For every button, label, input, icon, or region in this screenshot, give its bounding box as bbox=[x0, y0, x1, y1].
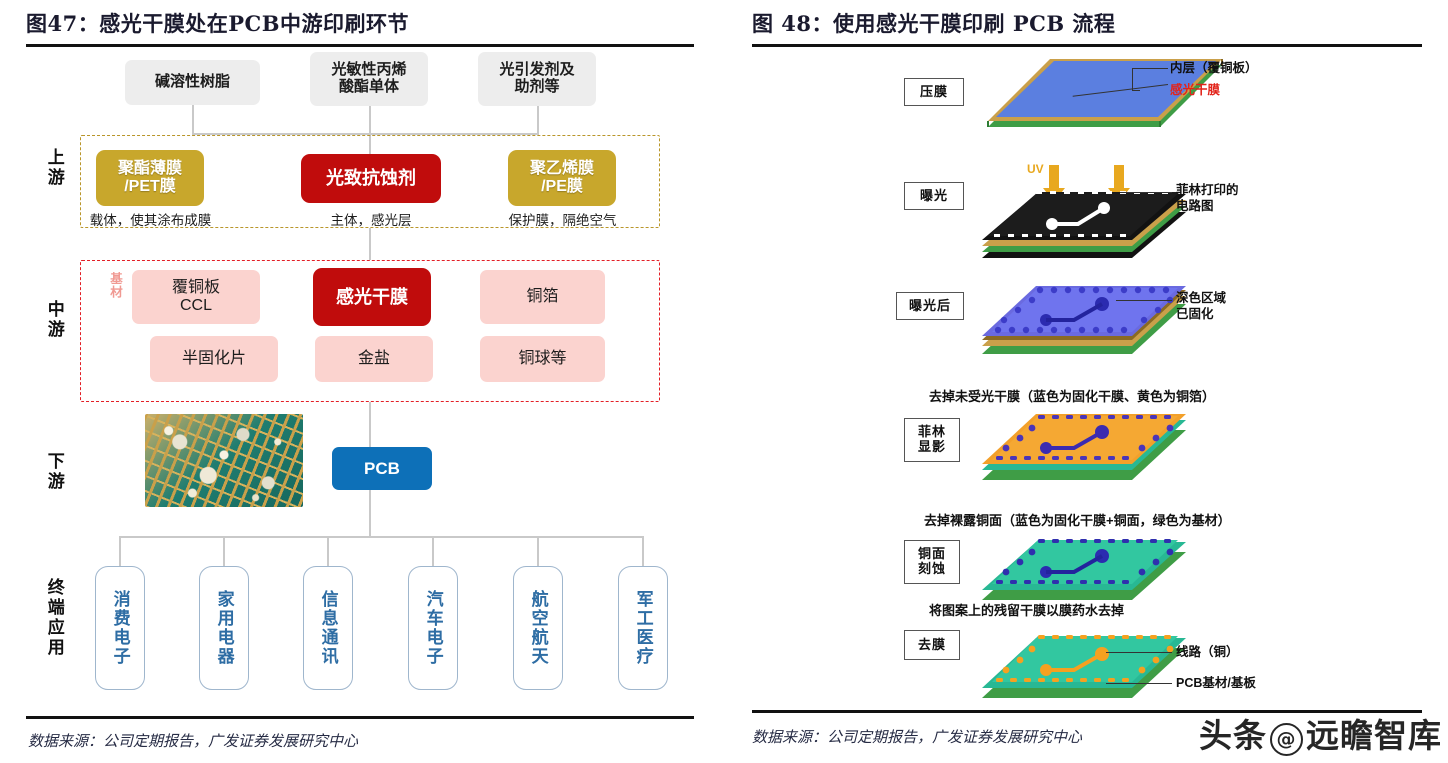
connector-pcb-apps bbox=[369, 490, 371, 537]
midstream-node-ccl: 覆铜板 CCL bbox=[132, 270, 260, 324]
connector-raw-1 bbox=[192, 105, 194, 134]
connector-apps-bus bbox=[119, 536, 642, 538]
application-box-military-medical: 军工医疗 bbox=[618, 566, 668, 690]
connector-app-4 bbox=[432, 536, 434, 566]
step-label-copper-etching: 铜面 刻蚀 bbox=[904, 540, 960, 584]
process-note-stripping: 将图案上的残留干膜以膜药水去掉 bbox=[929, 600, 1124, 619]
watermark-at-icon: @ bbox=[1270, 723, 1303, 756]
right-source-note: 数据来源：公司定期报告，广发证券发展研究中心 bbox=[752, 726, 1082, 747]
connector-app-3 bbox=[327, 536, 329, 566]
leader-cured-area bbox=[1116, 300, 1172, 301]
left-figure-title: 图47：感光干膜处在PCB中游印刷环节 bbox=[26, 8, 409, 38]
connector-app-5 bbox=[537, 536, 539, 566]
midstream-node-goldsalt: 金盐 bbox=[315, 336, 433, 382]
midstream-node-copperfoil: 铜箔 bbox=[480, 270, 605, 324]
pcb-board-photo bbox=[145, 414, 303, 507]
application-box-consumer-electronics: 消费电子 bbox=[95, 566, 145, 690]
right-figure-title: 图 48：使用感光干膜印刷 PCB 流程 bbox=[752, 8, 1115, 38]
connector-mid-down bbox=[369, 402, 371, 447]
watermark-name: 远瞻智库 bbox=[1306, 716, 1442, 755]
leader-bracket-inner-layer bbox=[1132, 68, 1133, 90]
upstream-caption-photoresist: 主体，感光层 bbox=[311, 209, 431, 229]
annotation-circuit-copper: 线路（铜） bbox=[1176, 644, 1239, 660]
stage-label-terminal: 终端应用 bbox=[44, 578, 63, 658]
application-box-home-appliances: 家用电器 bbox=[199, 566, 249, 690]
stage-label-midstream: 中游 bbox=[44, 300, 63, 340]
connector-raw-3 bbox=[537, 106, 539, 135]
board-illustration-etching bbox=[974, 522, 1224, 606]
leader-pcb-substrate bbox=[1106, 683, 1172, 684]
step-label-film-stripping: 去膜 bbox=[904, 630, 960, 660]
connector-app-1 bbox=[119, 536, 121, 566]
step-label-film-develop: 菲林 显影 bbox=[904, 418, 960, 462]
raw-material-box-3: 光引发剂及 助剂等 bbox=[478, 52, 596, 106]
watermark: 头条@远瞻智库 bbox=[1199, 709, 1442, 757]
upstream-caption-pet: 载体，使其涂布成膜 bbox=[88, 209, 213, 229]
annotation-cured-area: 深色区域 已固化 bbox=[1176, 290, 1226, 323]
application-box-automotive-electronics: 汽车电子 bbox=[408, 566, 458, 690]
upstream-caption-pe: 保护膜，隔绝空气 bbox=[500, 209, 625, 229]
step-label-post-exposure: 曝光后 bbox=[896, 292, 964, 320]
stage-label-downstream: 下游 bbox=[44, 452, 63, 492]
left-source-rule bbox=[26, 716, 694, 719]
upstream-node-pe: 聚乙烯膜 /PE膜 bbox=[508, 150, 616, 206]
board-illustration-develop bbox=[974, 398, 1224, 486]
connector-app-2 bbox=[223, 536, 225, 566]
watermark-head: 头条 bbox=[1199, 716, 1267, 755]
application-box-information-communication: 信息通讯 bbox=[303, 566, 353, 690]
stage-label-upstream: 上游 bbox=[44, 148, 63, 188]
leader-inner-layer-bottom bbox=[1132, 90, 1140, 91]
leader-circuit-copper bbox=[1106, 652, 1172, 653]
right-title-rule bbox=[752, 44, 1422, 47]
annotation-inner-layer: 内层（覆铜板） bbox=[1170, 60, 1258, 76]
base-material-label: 基材 bbox=[106, 272, 125, 299]
annotation-pcb-substrate: PCB基材/基板 bbox=[1176, 675, 1256, 691]
connector-raw-2 bbox=[369, 106, 371, 134]
left-source-note: 数据来源：公司定期报告，广发证券发展研究中心 bbox=[28, 730, 358, 751]
left-title-rule bbox=[26, 44, 694, 47]
connector-upstream-mid bbox=[369, 228, 371, 260]
raw-material-box-1: 碱溶性树脂 bbox=[125, 60, 260, 105]
figure-page: 图47：感光干膜处在PCB中游印刷环节 碱溶性树脂 光敏性丙烯 酸酯单体 光引发… bbox=[0, 0, 1448, 763]
left-figure-panel: 图47：感光干膜处在PCB中游印刷环节 碱溶性树脂 光敏性丙烯 酸酯单体 光引发… bbox=[0, 0, 724, 763]
leader-inner-layer bbox=[1132, 68, 1168, 69]
midstream-node-dryfilm: 感光干膜 bbox=[313, 268, 431, 326]
right-figure-panel: 图 48：使用感光干膜印刷 PCB 流程 压膜 内层（覆铜板） 感光干膜 曝光 … bbox=[724, 0, 1448, 763]
downstream-node-pcb: PCB bbox=[332, 447, 432, 490]
annotation-dry-film: 感光干膜 bbox=[1170, 82, 1220, 98]
leader-film-pattern bbox=[1120, 192, 1172, 193]
step-label-exposure: 曝光 bbox=[904, 182, 964, 210]
upstream-node-pet: 聚酯薄膜 /PET膜 bbox=[96, 150, 204, 206]
raw-material-box-2: 光敏性丙烯 酸酯单体 bbox=[310, 52, 428, 106]
midstream-node-copperball: 铜球等 bbox=[480, 336, 605, 382]
annotation-film-pattern: 菲林打印的 电路图 bbox=[1176, 182, 1239, 215]
connector-app-6 bbox=[642, 536, 644, 566]
step-label-lamination: 压膜 bbox=[904, 78, 964, 106]
upstream-node-photoresist: 光致抗蚀剂 bbox=[301, 154, 441, 203]
midstream-node-prepreg: 半固化片 bbox=[150, 336, 278, 382]
application-box-aerospace: 航空航天 bbox=[513, 566, 563, 690]
